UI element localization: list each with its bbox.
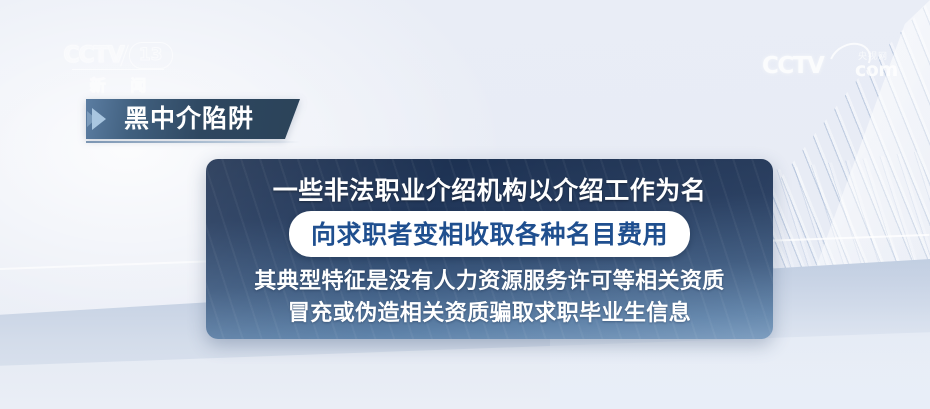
panel-highlight-pill: 向求职者变相收取各种名目费用 [289, 211, 690, 257]
topic-banner-title: 黑中介陷阱 [124, 99, 254, 139]
topic-banner-underline [86, 141, 300, 143]
panel-text-line-3: 其典型特征是没有人力资源服务许可等相关资质 [206, 263, 773, 295]
panel-highlight-row: 向求职者变相收取各种名目费用 [206, 211, 773, 257]
broadcast-frame: CCTV 13 新 闻 CCTV 央视网 com 黑中介陷阱 一些非法职业介绍机… [0, 0, 930, 409]
play-triangle-icon [92, 108, 106, 130]
panel-text-line-1: 一些非法职业介绍机构以介绍工作为名 [206, 171, 773, 207]
panel-text-line-4: 冒充或伪造相关资质骗取求职毕业生信息 [206, 295, 773, 327]
lower-third-panel: 一些非法职业介绍机构以介绍工作为名 向求职者变相收取各种名目费用 其典型特征是没… [206, 159, 773, 339]
